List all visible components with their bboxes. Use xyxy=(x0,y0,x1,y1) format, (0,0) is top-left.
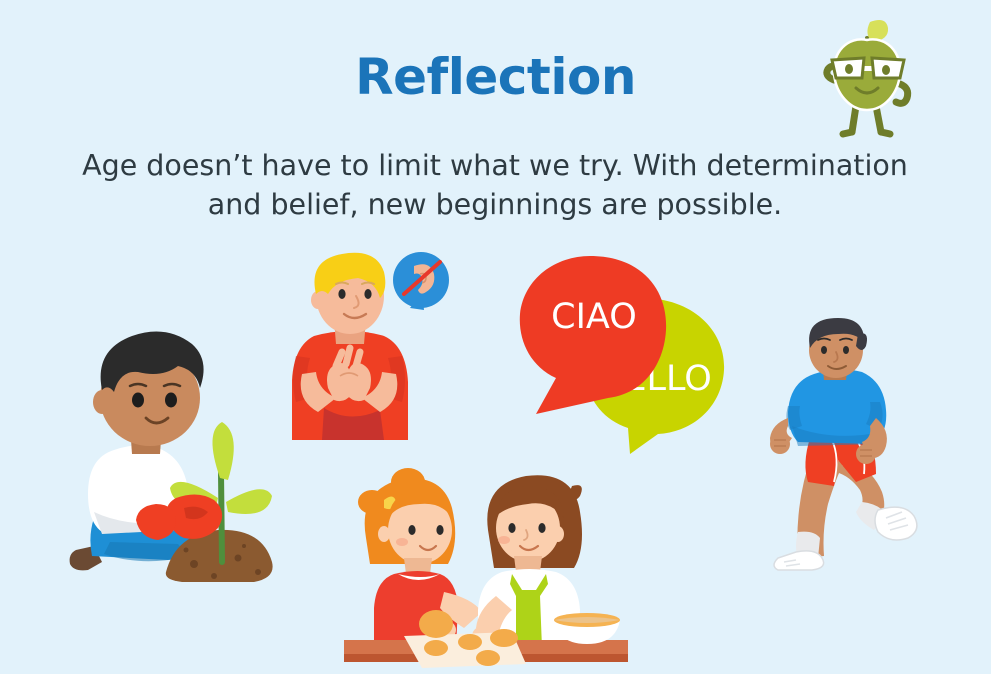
plant-leaf-top xyxy=(212,422,233,480)
person-right-eye xyxy=(364,289,371,299)
boy2-cheek xyxy=(498,536,510,544)
girl-hair-side-puff xyxy=(358,490,386,514)
dough-in-hands xyxy=(419,610,453,638)
soil-crumb xyxy=(242,544,246,548)
dough-ball xyxy=(476,650,500,666)
runner-back-shoe xyxy=(875,507,917,540)
mascot-right-foot xyxy=(881,132,890,134)
mascot-right-leg xyxy=(876,106,881,132)
runner-front-shoe xyxy=(774,551,824,570)
soil-speck xyxy=(255,569,261,575)
runner-left-eye xyxy=(821,346,827,354)
soil-speck xyxy=(235,555,242,562)
mascot-left-foot xyxy=(843,132,852,134)
reflection-body-text: Age doesn’t have to limit what we try. W… xyxy=(55,146,935,225)
plant-leaf-right xyxy=(226,489,272,514)
illustration-man-running xyxy=(762,326,937,571)
soil-speck xyxy=(211,573,217,579)
boy2-left-eye xyxy=(508,523,515,533)
soil-crumb xyxy=(184,548,189,553)
boy-pants-shadow xyxy=(104,542,183,561)
dough-ball xyxy=(424,640,448,656)
boy-ear xyxy=(93,390,111,414)
girl-left-eye xyxy=(408,525,415,535)
soil-speck xyxy=(190,560,198,568)
girl-left-cheek xyxy=(396,538,408,546)
illustration-children-baking xyxy=(336,468,636,668)
illustration-boy-planting xyxy=(58,322,298,592)
boy2-right-eye xyxy=(538,523,545,533)
runner-right-fist xyxy=(856,444,876,464)
apple-mascot xyxy=(812,14,922,139)
deaf-speech-bubble xyxy=(393,252,449,310)
mascot-left-leg xyxy=(852,106,856,132)
boy-right-eye xyxy=(165,393,177,408)
boy-left-eye xyxy=(132,393,144,408)
person-ear xyxy=(311,291,325,309)
runner-right-eye xyxy=(843,346,849,354)
mascot-left-eye xyxy=(845,64,853,74)
boy2-hair-tuft xyxy=(568,485,582,500)
person-left-eye xyxy=(338,289,345,299)
mascot-right-eye xyxy=(882,65,890,75)
illustration-person-signing xyxy=(284,248,454,440)
girl-right-eye xyxy=(436,525,443,535)
dough-piece xyxy=(490,629,518,647)
bubble-ciao-text: CIAO xyxy=(551,297,637,337)
illustration-greeting-bubbles: HELLO CIAO xyxy=(512,256,732,456)
runner-left-fist xyxy=(770,434,790,454)
slide-canvas: Reflection Age doesn’t have to limit wha… xyxy=(0,0,991,674)
dough-ball xyxy=(458,634,482,650)
